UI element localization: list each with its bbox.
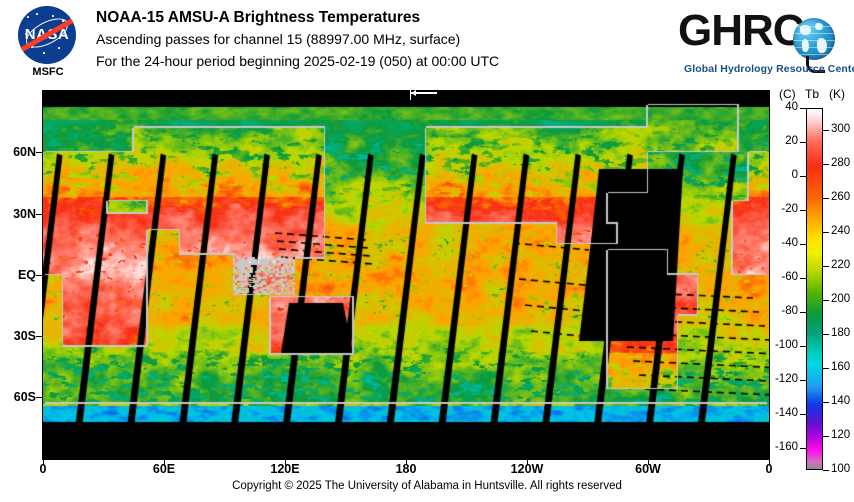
colorbar-tick-k-180 <box>823 334 829 335</box>
colorbar-label-c-20: 20 <box>760 135 798 147</box>
lat-label-60n: 60N <box>0 145 36 159</box>
lat-tick-30n <box>36 214 42 215</box>
colorbar-tick-k-140 <box>823 402 829 403</box>
colorbar-label-c--100: -100 <box>760 339 798 351</box>
lat-tick-60n <box>36 152 42 153</box>
lat-label-30n: 30N <box>0 207 36 221</box>
colorbar-header-kelvin: (K) <box>829 87 845 101</box>
colorbar-tick-k-280 <box>823 164 829 165</box>
colorbar-label-k-200: 200 <box>831 293 850 305</box>
colorbar-tick-c--120 <box>800 380 806 381</box>
colorbar-label-c--80: -80 <box>760 305 798 317</box>
colorbar-label-c--120: -120 <box>760 373 798 385</box>
colorbar-tick-c--20 <box>800 210 806 211</box>
colorbar-tick-c--100 <box>800 346 806 347</box>
colorbar-label-c--140: -140 <box>760 407 798 419</box>
subtitle-channel: Ascending passes for channel 15 (88997.0… <box>96 28 499 50</box>
colorbar-tick-k-300 <box>823 130 829 131</box>
ghrc-globe-icon <box>793 18 835 60</box>
brightness-temperature-heatmap[interactable] <box>43 91 769 459</box>
colorbar-label-c--20: -20 <box>760 203 798 215</box>
subtitle-period: For the 24-hour period beginning 2025-02… <box>96 50 499 72</box>
lat-label-60s: 60S <box>0 390 36 404</box>
lon-label-60e: 60E <box>144 462 184 476</box>
nasa-meatball-icon: NASA <box>18 6 76 64</box>
colorbar-tick-c--140 <box>800 414 806 415</box>
colorbar-tick-k-100 <box>823 470 829 471</box>
colorbar-label-c--160: -160 <box>760 441 798 453</box>
colorbar-label-k-140: 140 <box>831 395 850 407</box>
lon-label-120w: 120W <box>507 462 547 476</box>
colorbar-tick-k-220 <box>823 266 829 267</box>
page-header: NASA MSFC NOAA-15 AMSU-A Brightness Temp… <box>0 0 854 88</box>
colorbar-tick-c-40 <box>800 108 806 109</box>
nasa-logo: NASA MSFC <box>10 6 86 82</box>
colorbar-tick-c--40 <box>800 244 806 245</box>
colorbar-label-k-180: 180 <box>831 327 850 339</box>
colorbar-tick-c--160 <box>800 448 806 449</box>
lon-label-60w: 60W <box>628 462 668 476</box>
dateline-marker-arrow-icon <box>411 92 437 94</box>
colorbar-label-k-120: 120 <box>831 429 850 441</box>
lat-tick-60s <box>36 397 42 398</box>
colorbar-tick-k-240 <box>823 232 829 233</box>
ghrc-wordmark: GHRC <box>678 6 804 56</box>
lat-label-eq: EQ <box>0 268 36 282</box>
lat-tick-eq <box>36 275 42 276</box>
msfc-label: MSFC <box>10 66 86 78</box>
colorbar-label-k-240: 240 <box>831 225 850 237</box>
ghrc-logo: GHRC Global Hydrology Resource Center <box>678 6 846 78</box>
colorbar-label-k-100: 100 <box>831 463 850 475</box>
colorbar-tick-k-120 <box>823 436 829 437</box>
colorbar-label-c--40: -40 <box>760 237 798 249</box>
temperature-colorbar[interactable] <box>806 108 823 470</box>
page-title: NOAA-15 AMSU-A Brightness Temperatures <box>96 8 499 28</box>
colorbar-label-c-0: 0 <box>760 169 798 181</box>
title-block: NOAA-15 AMSU-A Brightness Temperatures A… <box>96 8 499 72</box>
colorbar-tick-k-200 <box>823 300 829 301</box>
colorbar-tick-k-160 <box>823 368 829 369</box>
lat-label-30s: 30S <box>0 329 36 343</box>
lon-label-180: 180 <box>386 462 426 476</box>
colorbar-header-celsius: (C) <box>779 87 796 101</box>
colorbar-tick-c--60 <box>800 278 806 279</box>
colorbar-label-k-220: 220 <box>831 259 850 271</box>
colorbar-header-tb: Tb <box>805 87 819 101</box>
map-panel[interactable] <box>42 90 770 460</box>
colorbar-tick-c-20 <box>800 142 806 143</box>
colorbar-label-c-40: 40 <box>760 101 798 113</box>
colorbar-label-k-260: 260 <box>831 191 850 203</box>
copyright-notice: Copyright © 2025 The University of Alaba… <box>0 480 854 492</box>
colorbar-tick-c--80 <box>800 312 806 313</box>
lon-label-0: 0 <box>23 462 63 476</box>
ghrc-tagline: Global Hydrology Resource Center <box>684 63 854 75</box>
lon-label-120e: 120E <box>265 462 305 476</box>
colorbar-tick-k-260 <box>823 198 829 199</box>
lat-tick-30s <box>36 336 42 337</box>
colorbar-label-k-300: 300 <box>831 123 850 135</box>
colorbar-tick-c-0 <box>800 176 806 177</box>
lon-label-360: 0 <box>749 462 789 476</box>
colorbar-label-c--60: -60 <box>760 271 798 283</box>
colorbar-label-k-160: 160 <box>831 361 850 373</box>
colorbar-label-k-280: 280 <box>831 157 850 169</box>
